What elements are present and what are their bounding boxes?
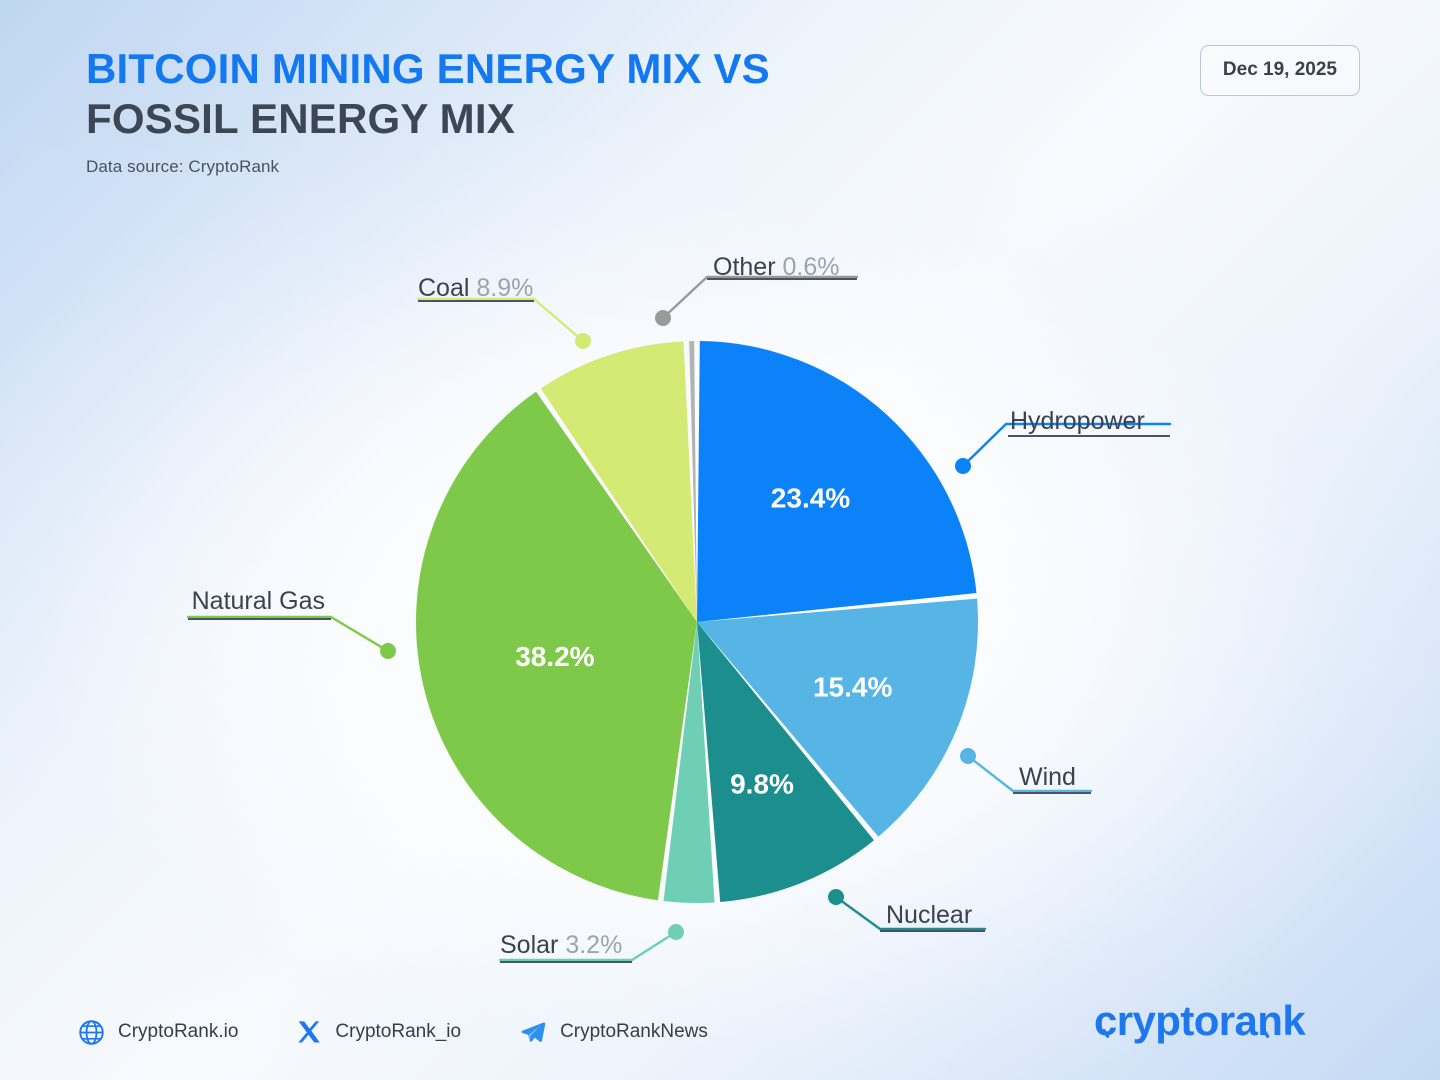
pie-chart-svg: HydropowerWindNuclearSolar 3.2%Natural G… bbox=[0, 0, 1440, 1080]
footer-link-x-label: CryptoRank_io bbox=[335, 1021, 461, 1043]
pie-slice-value-wind: 15.4% bbox=[813, 672, 892, 703]
pie-slices bbox=[416, 341, 978, 903]
callout-dot-solar bbox=[668, 924, 684, 940]
callout-label-other: Other 0.6% bbox=[713, 253, 839, 281]
footer-social-links: CryptoRank.io CryptoRank_io CryptoRankNe… bbox=[78, 1018, 708, 1046]
callout-label-solar: Solar 3.2% bbox=[500, 931, 622, 959]
callout-dot-natural-gas bbox=[380, 643, 396, 659]
callout-label-wind: Wind bbox=[1019, 763, 1076, 791]
footer-link-telegram-label: CryptoRankNews bbox=[560, 1021, 708, 1043]
callout-leader-coal bbox=[418, 299, 583, 341]
footer-link-website[interactable]: CryptoRank.io bbox=[78, 1019, 238, 1046]
pie-slice-value-natural-gas: 38.2% bbox=[515, 641, 594, 672]
cryptorank-logo: cryptorank bbox=[1094, 996, 1364, 1048]
callout-dot-coal bbox=[575, 333, 591, 349]
telegram-icon bbox=[519, 1018, 547, 1046]
callout-label-coal: Coal 8.9% bbox=[418, 274, 533, 302]
callout-dot-other bbox=[655, 310, 671, 326]
cryptorank-wordmark: cryptorank bbox=[1094, 996, 1364, 1048]
x-twitter-icon bbox=[296, 1019, 322, 1045]
pie-slice-value-hydropower: 23.4% bbox=[771, 482, 850, 513]
callout-label-natural-gas: Natural Gas bbox=[192, 587, 325, 615]
callout-dot-nuclear bbox=[828, 889, 844, 905]
pie-chart: HydropowerWindNuclearSolar 3.2%Natural G… bbox=[0, 0, 1440, 1080]
callout-label-hydropower: Hydropower bbox=[1010, 407, 1145, 435]
footer-link-x[interactable]: CryptoRank_io bbox=[296, 1019, 461, 1045]
callout-leader-natural-gas bbox=[188, 617, 388, 651]
callout-label-nuclear: Nuclear bbox=[886, 901, 972, 929]
svg-text:cryptorank: cryptorank bbox=[1094, 997, 1306, 1044]
footer-link-website-label: CryptoRank.io bbox=[118, 1021, 238, 1043]
callout-dot-hydropower bbox=[955, 458, 971, 474]
pie-slice-value-nuclear: 9.8% bbox=[730, 769, 794, 800]
footer-link-telegram[interactable]: CryptoRankNews bbox=[519, 1018, 708, 1046]
globe-icon bbox=[78, 1019, 105, 1046]
callout-dot-wind bbox=[960, 748, 976, 764]
callout-leader-other bbox=[663, 277, 857, 318]
